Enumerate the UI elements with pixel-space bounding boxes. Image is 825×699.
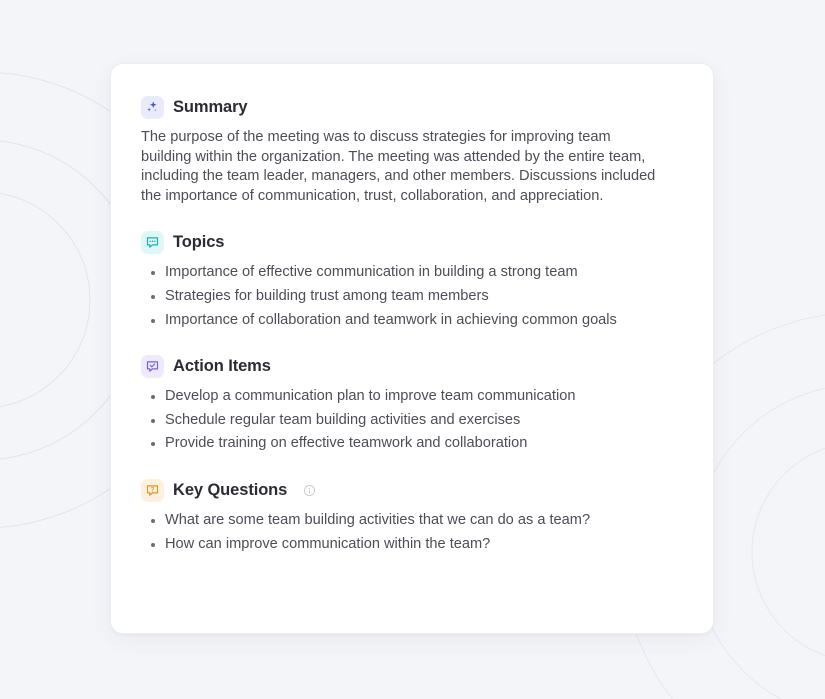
section-topics: Topics Importance of effective communica… [141,231,683,330]
list-item: Importance of effective communication in… [141,263,671,283]
info-circle-icon[interactable] [303,484,316,497]
decor-ring-right-1 [752,442,825,662]
section-key-questions-title: Key Questions [173,481,287,501]
list-item: Schedule regular team building activitie… [141,411,671,431]
meeting-summary-card: Summary The purpose of the meeting was t… [110,63,714,634]
chat-bubble-question-icon: ? [141,479,164,502]
list-item: Develop a communication plan to improve … [141,387,671,407]
section-summary-title: Summary [173,98,248,118]
section-action-items-title: Action Items [173,357,271,377]
section-action-items-header: Action Items [141,355,683,378]
svg-text:?: ? [151,487,155,493]
section-summary-header: Summary [141,96,683,119]
decor-ring-left-1 [0,192,90,408]
sparkle-icon [141,96,164,119]
section-action-items: Action Items Develop a communication pla… [141,355,683,454]
section-key-questions: ? Key Questions What are some team build… [141,479,683,554]
chat-bubble-dots-icon [141,231,164,254]
list-item: Importance of collaboration and teamwork… [141,311,671,331]
key-questions-list: What are some team building activities t… [141,511,683,554]
section-topics-header: Topics [141,231,683,254]
summary-paragraph: The purpose of the meeting was to discus… [141,128,661,206]
action-items-list: Develop a communication plan to improve … [141,387,683,454]
topics-list: Importance of effective communication in… [141,263,683,330]
section-key-questions-header: ? Key Questions [141,479,683,502]
section-summary: Summary The purpose of the meeting was t… [141,96,683,206]
section-topics-title: Topics [173,233,224,253]
list-item: Strategies for building trust among team… [141,287,671,307]
list-item: What are some team building activities t… [141,511,671,531]
chat-bubble-check-icon [141,355,164,378]
list-item: How can improve communication within the… [141,535,671,555]
list-item: Provide training on effective teamwork a… [141,434,671,454]
